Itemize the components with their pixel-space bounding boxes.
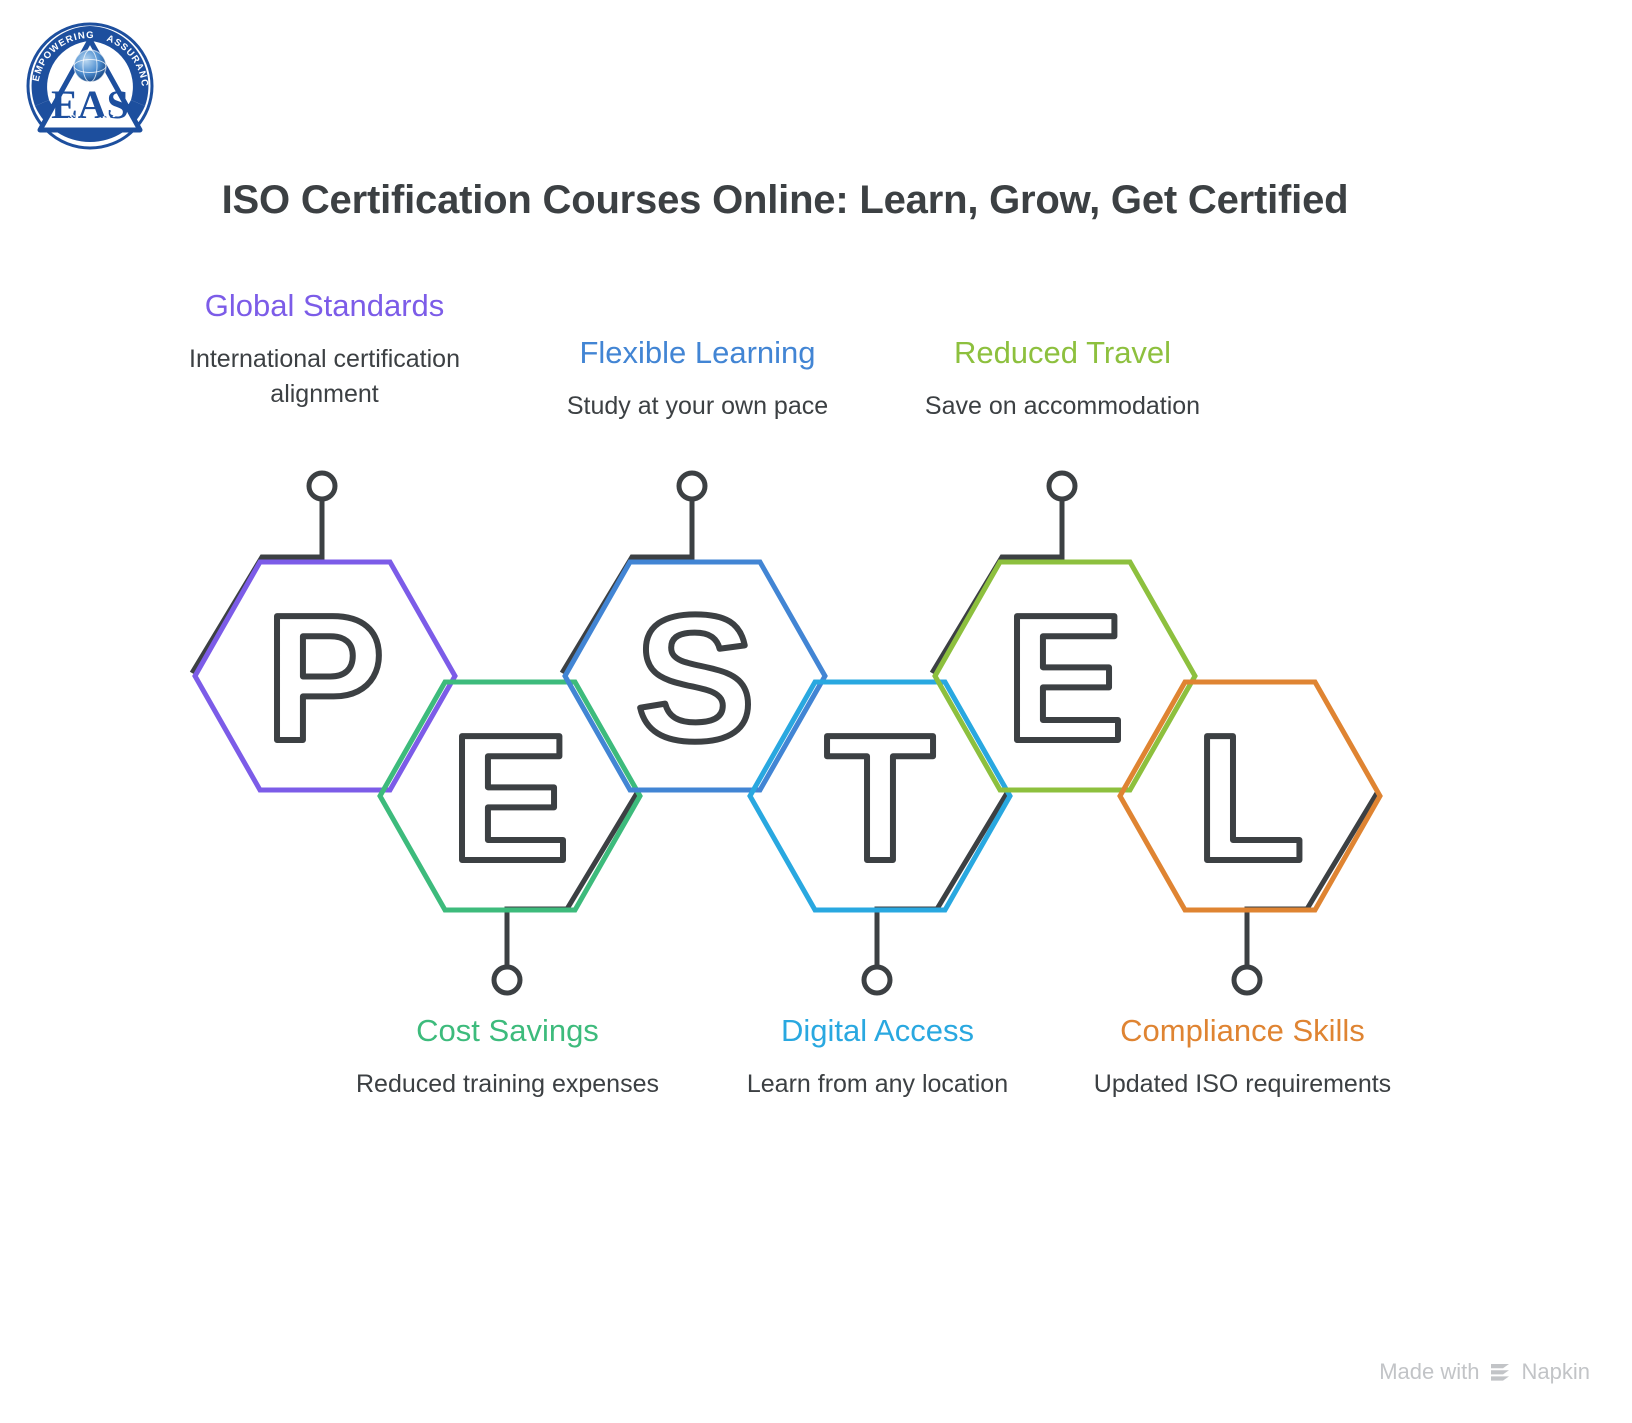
connector-dot-s	[679, 473, 705, 499]
hexagon-letter-e2: E	[1005, 578, 1125, 779]
watermark-prefix: Made with	[1379, 1359, 1479, 1385]
connector-dot-e1	[494, 967, 520, 993]
watermark-brand: Napkin	[1522, 1359, 1590, 1385]
napkin-logo-icon	[1489, 1361, 1513, 1383]
hexagon-letter-t: T	[825, 698, 935, 899]
infographic-canvas: EAS EMPOWERING ASSURANCE SYSTEMS ISO Cer…	[0, 0, 1632, 1423]
connector-dot-e2	[1049, 473, 1075, 499]
connector-dot-l	[1234, 967, 1260, 993]
napkin-watermark: Made with Napkin	[1379, 1359, 1590, 1385]
hexagon-letter-p: P	[265, 578, 385, 779]
connector-dot-t	[864, 967, 890, 993]
connector-dot-p	[309, 473, 335, 499]
hexagon-letter-e1: E	[450, 698, 570, 899]
hexagon-letter-l: L	[1195, 698, 1305, 899]
pestel-hexagon-diagram: P E S T E L	[0, 0, 1632, 1423]
hexagon-letter-s: S	[635, 578, 755, 779]
